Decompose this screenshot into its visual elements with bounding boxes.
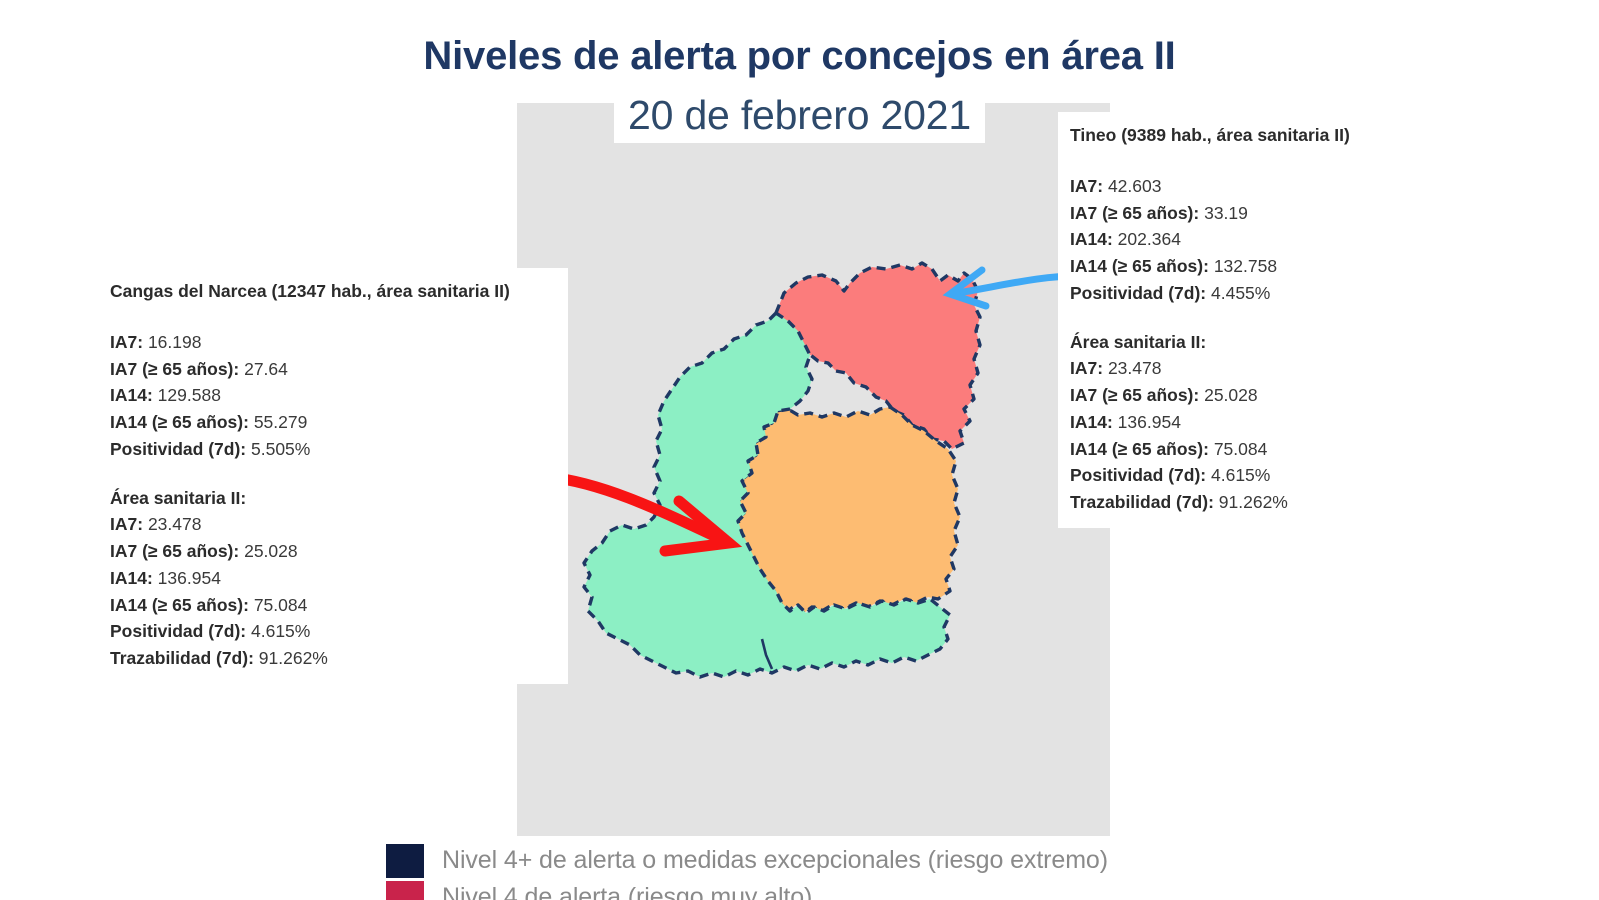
area-stat-row-positividad: Positividad (7d): 4.615% [1070,462,1464,489]
stat-value: 23.478 [1108,358,1162,378]
legend-label-nivel-4-plus: Nivel 4+ de alerta o medidas excepcional… [442,846,1108,875]
stat-value: 91.262% [1219,492,1288,512]
panel-spacer [110,463,554,485]
panel-heading-area: Área sanitaria II: [1070,329,1464,356]
stat-key: IA14: [1070,412,1113,432]
area-stat-row-ia7-65: IA7 (≥ 65 años): 25.028 [1070,382,1464,409]
area-stat-row-trazabilidad: Trazabilidad (7d): 91.262% [1070,489,1464,516]
stat-row-ia14: IA14: 202.364 [1070,226,1464,253]
area-stat-row-positividad: Positividad (7d): 4.615% [110,618,554,645]
info-panel-cangas-del-narcea: Cangas del Narcea (12347 hab., área sani… [98,268,568,684]
stat-value: 25.028 [244,541,298,561]
stat-value: 4.455% [1211,283,1270,303]
stat-key: IA7: [1070,358,1103,378]
stat-value: 91.262% [259,648,328,668]
stat-key: Positividad (7d): [1070,465,1206,485]
stat-row-ia7: IA7: 42.603 [1070,173,1464,200]
stat-key: IA14: [1070,229,1113,249]
stat-row-ia7: IA7: 16.198 [110,329,554,356]
stat-key: IA14 (≥ 65 años): [110,412,249,432]
stat-value: 136.954 [1118,412,1181,432]
legend-row-nivel-4-plus: Nivel 4+ de alerta o medidas excepcional… [386,842,1206,879]
stat-key: IA7 (≥ 65 años): [110,541,239,561]
stat-value: 75.084 [254,595,308,615]
stat-value: 16.198 [148,332,202,352]
stat-value: 42.603 [1108,176,1162,196]
stat-key: IA7 (≥ 65 años): [1070,203,1199,223]
stat-row-positividad: Positividad (7d): 4.455% [1070,280,1464,307]
stat-key: IA14 (≥ 65 años): [1070,439,1209,459]
legend-swatch-nivel-4 [386,881,424,900]
panel-heading-municipality: Cangas del Narcea (12347 hab., área sani… [110,278,554,305]
area-stat-row-ia14: IA14: 136.954 [110,565,554,592]
stat-value: 202.364 [1118,229,1181,249]
stat-value: 25.028 [1204,385,1258,405]
stat-value: 4.615% [251,621,310,641]
stat-value: 55.279 [254,412,308,432]
stat-key: IA7 (≥ 65 años): [1070,385,1199,405]
stat-key: Trazabilidad (7d): [1070,492,1214,512]
stat-row-ia14-65: IA14 (≥ 65 años): 55.279 [110,409,554,436]
stat-key: IA7 (≥ 65 años): [110,359,239,379]
stat-key: IA14: [110,385,153,405]
stat-key: IA7: [1070,176,1103,196]
stat-key: IA7: [110,332,143,352]
stat-row-ia7-65: IA7 (≥ 65 años): 27.64 [110,356,554,383]
stat-row-ia14: IA14: 129.588 [110,382,554,409]
alert-level-legend: Nivel 4+ de alerta o medidas excepcional… [386,836,1206,900]
stat-row-positividad: Positividad (7d): 5.505% [110,436,554,463]
stat-key: Positividad (7d): [110,439,246,459]
stat-value: 5.505% [251,439,310,459]
legend-row-nivel-4: Nivel 4 de alerta (riesgo muy alto) [386,879,1206,900]
area-stat-row-ia14-65: IA14 (≥ 65 años): 75.084 [110,592,554,619]
stat-value: 129.588 [158,385,221,405]
stat-value: 4.615% [1211,465,1270,485]
panel-heading-municipality: Tineo (9389 hab., área sanitaria II) [1070,122,1464,149]
legend-swatch-nivel-4-plus [386,844,424,878]
stat-value: 33.19 [1204,203,1248,223]
stat-value: 75.084 [1214,439,1268,459]
stat-key: IA14: [110,568,153,588]
stat-value: 136.954 [158,568,221,588]
area-stat-row-ia7: IA7: 23.478 [1070,355,1464,382]
stat-row-ia7-65: IA7 (≥ 65 años): 33.19 [1070,200,1464,227]
stat-key: IA14 (≥ 65 años): [110,595,249,615]
stat-key: Positividad (7d): [1070,283,1206,303]
stat-row-ia14-65: IA14 (≥ 65 años): 132.758 [1070,253,1464,280]
stat-key: IA7: [110,514,143,534]
slide-canvas: Niveles de alerta por concejos en área I… [0,0,1599,900]
area-stat-row-ia7: IA7: 23.478 [110,511,554,538]
stat-value: 27.64 [244,359,288,379]
stat-key: Trazabilidad (7d): [110,648,254,668]
page-title: Niveles de alerta por concejos en área I… [0,34,1599,79]
stat-key: IA14 (≥ 65 años): [1070,256,1209,276]
stat-value: 23.478 [148,514,202,534]
panel-spacer [1070,307,1464,329]
area-stat-row-ia14: IA14: 136.954 [1070,409,1464,436]
stat-key: Positividad (7d): [110,621,246,641]
area-stat-row-ia7-65: IA7 (≥ 65 años): 25.028 [110,538,554,565]
area-stat-row-ia14-65: IA14 (≥ 65 años): 75.084 [1070,436,1464,463]
area-stat-row-trazabilidad: Trazabilidad (7d): 91.262% [110,645,554,672]
legend-label-nivel-4: Nivel 4 de alerta (riesgo muy alto) [442,883,812,900]
panel-heading-area: Área sanitaria II: [110,485,554,512]
alert-level-map [560,225,1000,685]
stat-value: 132.758 [1214,256,1277,276]
info-panel-tineo: Tineo (9389 hab., área sanitaria II) IA7… [1058,112,1478,528]
